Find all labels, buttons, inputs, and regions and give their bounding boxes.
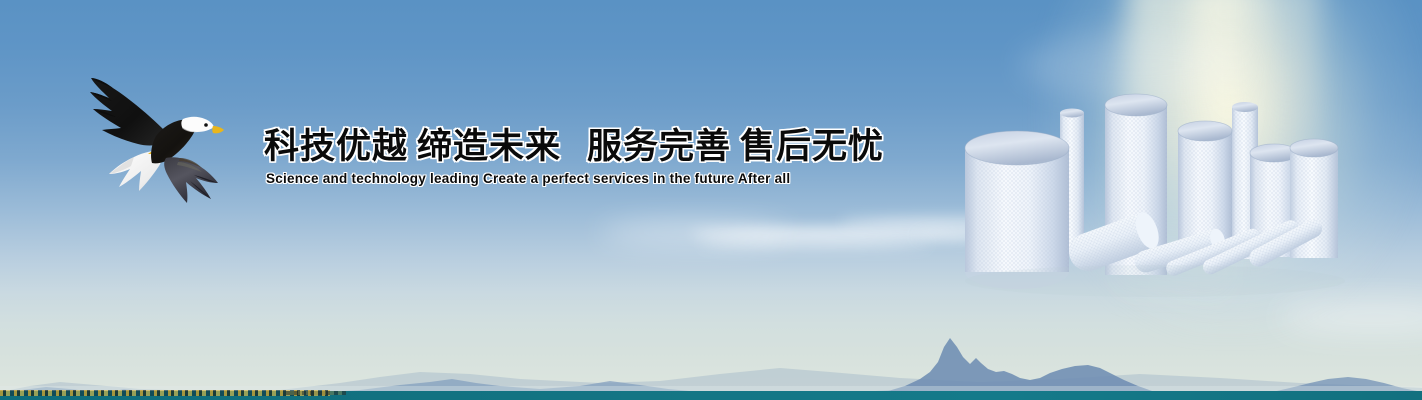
headline-segment-4: 售后无忧 — [740, 127, 884, 166]
headline-segment-1: 科技优越 — [264, 127, 408, 166]
headline-segment-3: 服务完善 — [587, 127, 731, 166]
shoreline-speckle-left — [0, 390, 330, 396]
subheadline: Science and technology leading Create a … — [266, 171, 790, 186]
headline-segment-2: 缔造未来 — [417, 127, 561, 166]
sky-background — [0, 0, 1422, 400]
shoreline-speckle-mid — [286, 391, 346, 395]
hero-banner: 科技优越缔造未来服务完善售后无忧 Science and technology … — [0, 0, 1422, 400]
headline: 科技优越缔造未来服务完善售后无忧 — [264, 118, 884, 169]
